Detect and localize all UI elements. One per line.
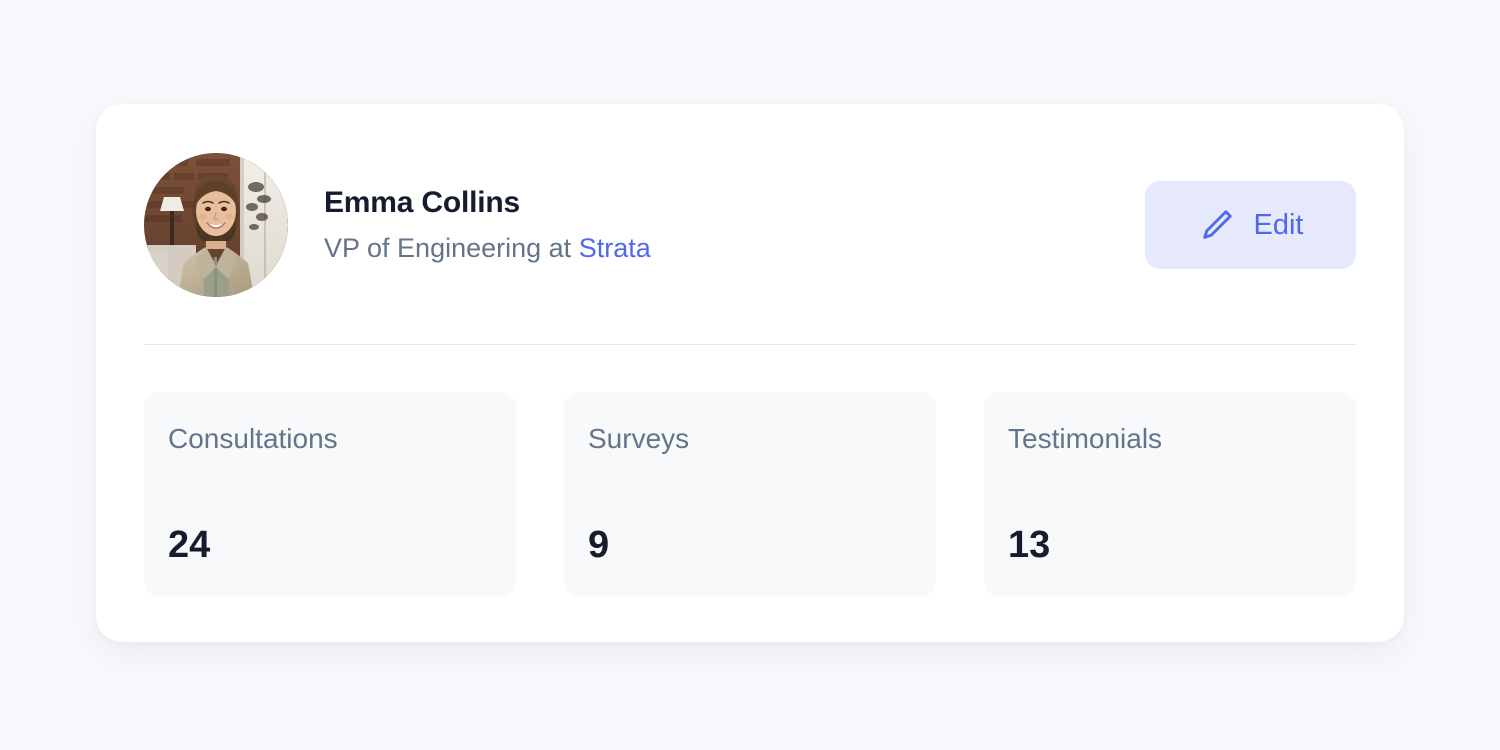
identity-block: Emma Collins VP of Engineering at Strata — [324, 186, 1145, 265]
page-root: Emma Collins VP of Engineering at Strata… — [0, 0, 1500, 750]
stat-label: Consultations — [168, 424, 492, 455]
stats-row: Consultations 24 Surveys 9 Testimonials … — [144, 392, 1356, 596]
person-role-prefix: VP of Engineering at — [324, 233, 579, 263]
person-role: VP of Engineering at Strata — [324, 232, 1145, 264]
person-company[interactable]: Strata — [579, 233, 651, 263]
stat-value: 13 — [1008, 526, 1050, 564]
user-portrait-photo-icon — [144, 153, 288, 297]
edit-button[interactable]: Edit — [1145, 181, 1356, 269]
profile-header: Emma Collins VP of Engineering at Strata… — [144, 153, 1356, 297]
section-divider — [144, 344, 1356, 345]
stat-label: Surveys — [588, 424, 912, 455]
stat-card-consultations: Consultations 24 — [144, 392, 516, 596]
stat-card-surveys: Surveys 9 — [564, 392, 936, 596]
person-name: Emma Collins — [324, 186, 1145, 221]
edit-button-label: Edit — [1254, 211, 1304, 240]
profile-card: Emma Collins VP of Engineering at Strata… — [96, 104, 1404, 642]
stat-value: 9 — [588, 526, 609, 564]
avatar — [144, 153, 288, 297]
stat-label: Testimonials — [1008, 424, 1332, 455]
pencil-icon — [1198, 206, 1236, 244]
stat-card-testimonials: Testimonials 13 — [984, 392, 1356, 596]
stat-value: 24 — [168, 526, 210, 564]
